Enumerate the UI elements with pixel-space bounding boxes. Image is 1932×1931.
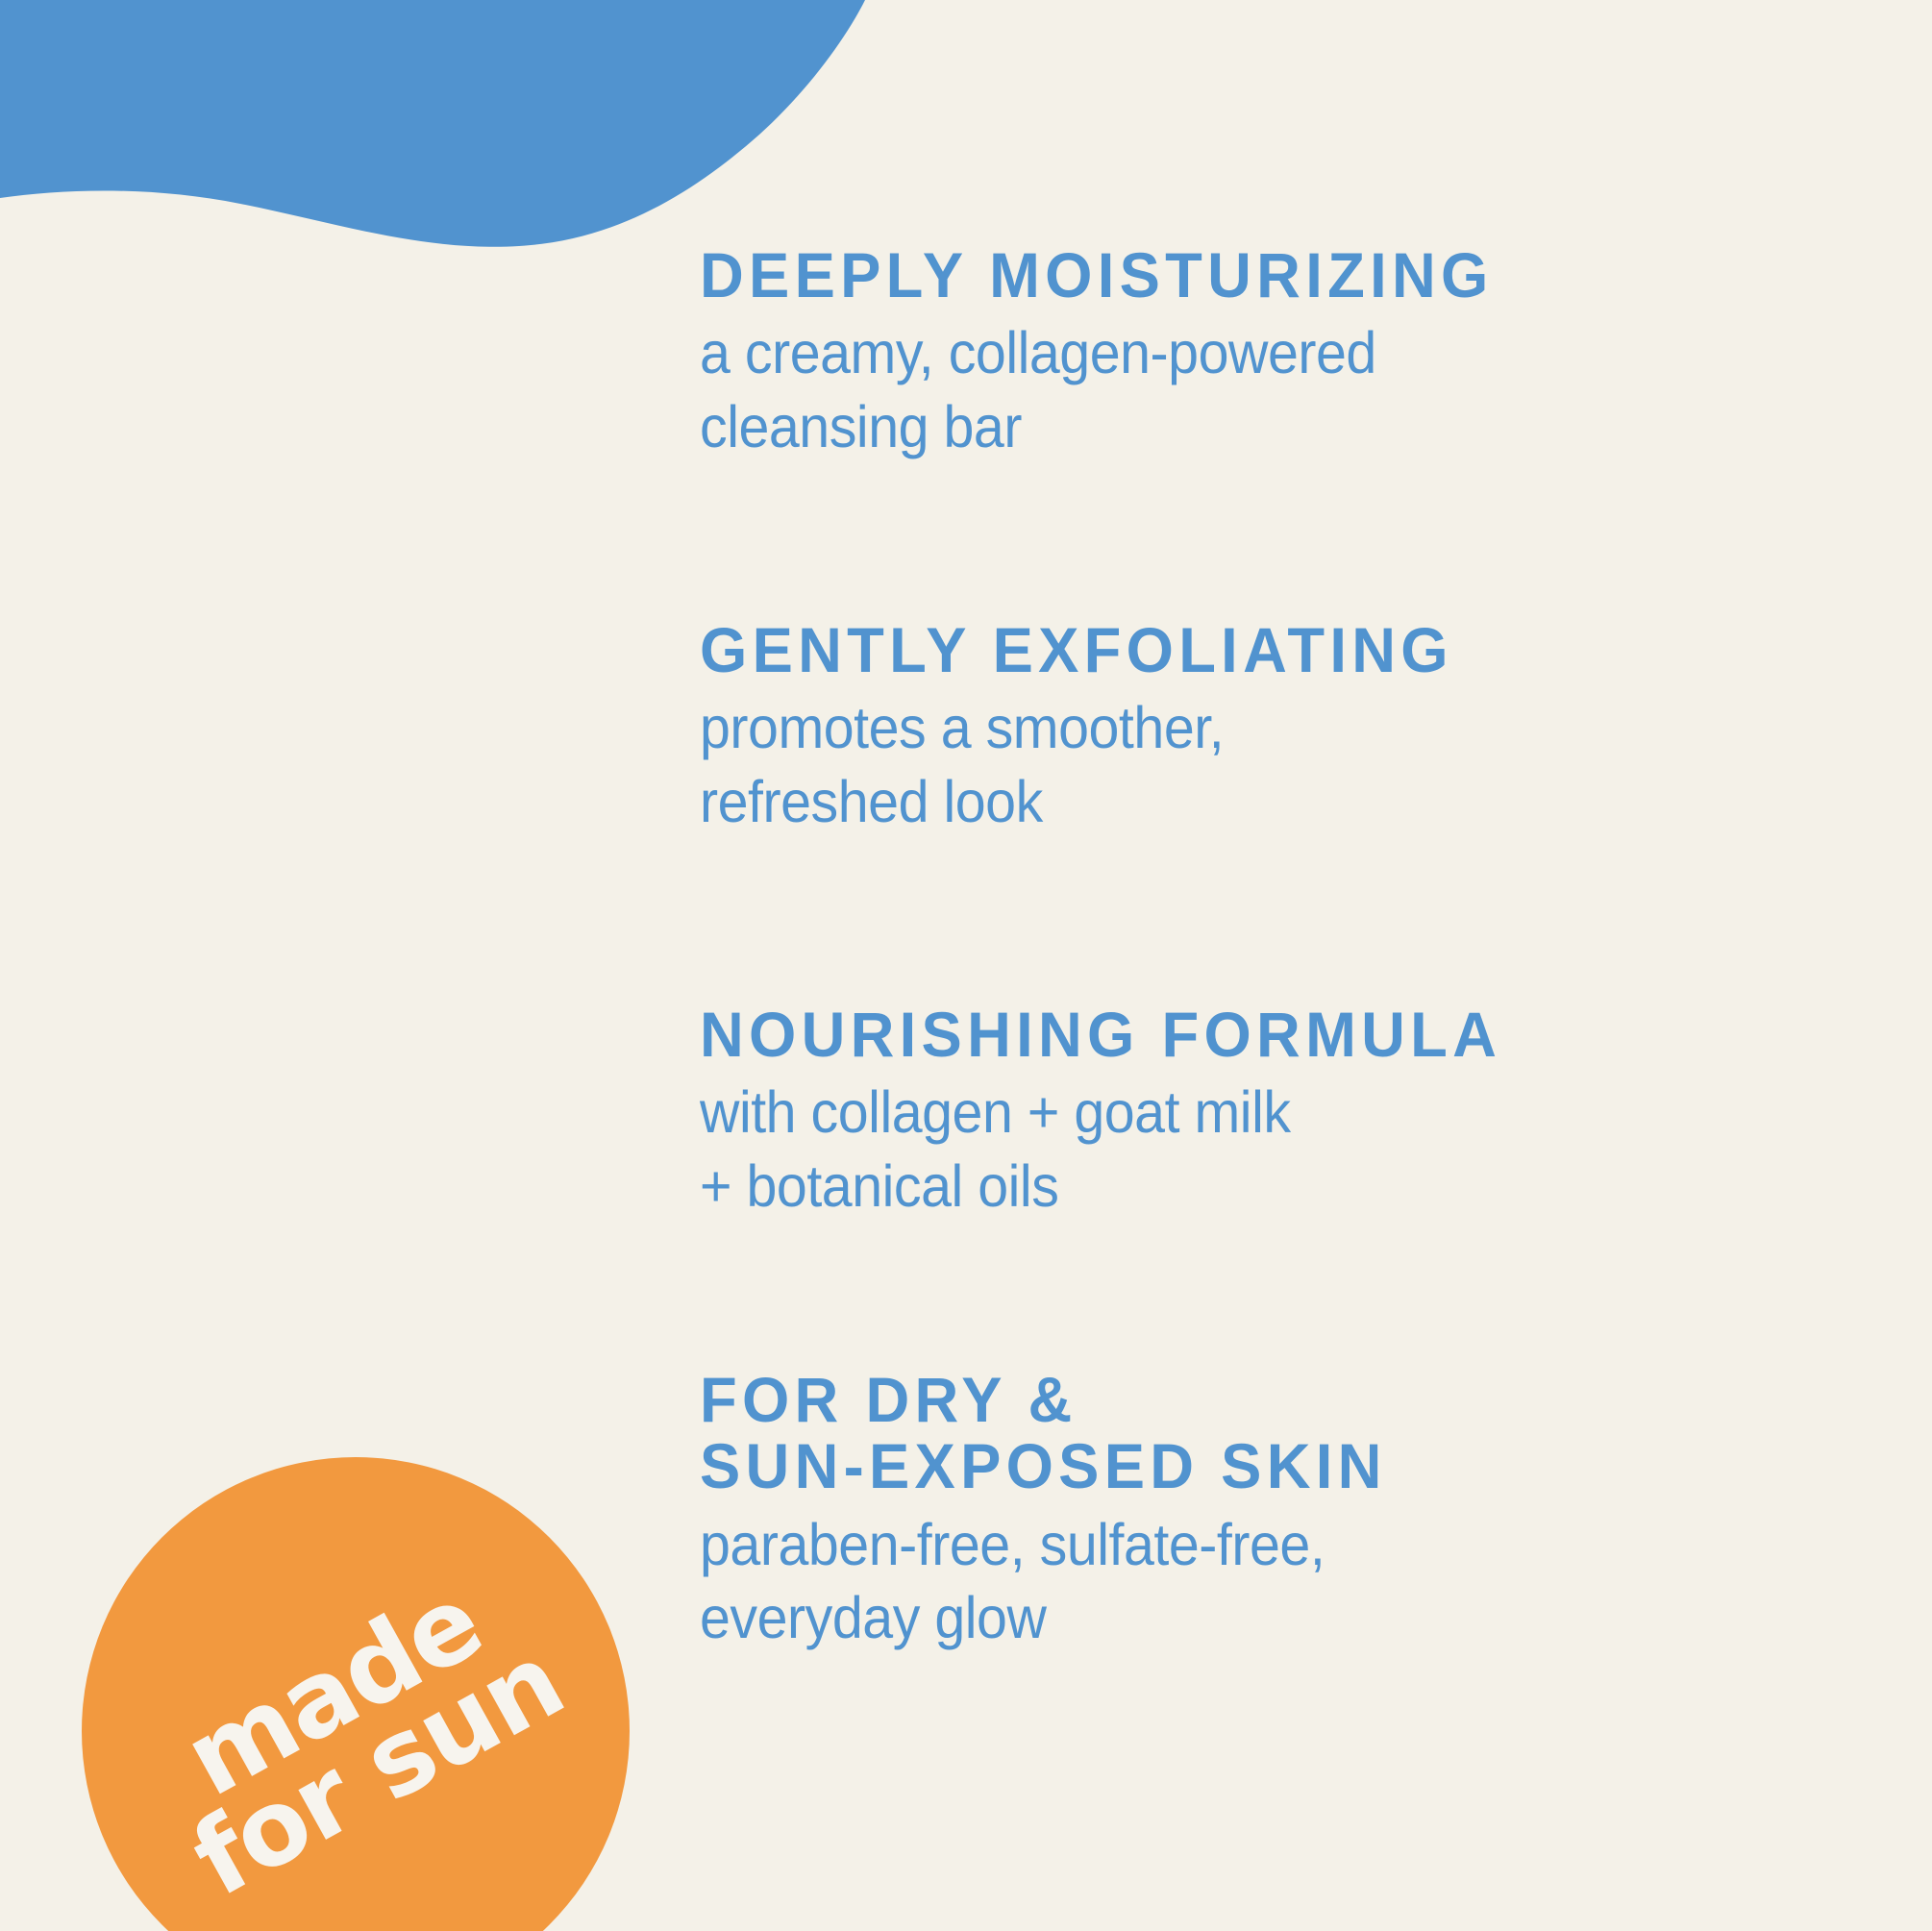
feature-block: FOR DRY & SUN-EXPOSED SKIN paraben-free,… bbox=[700, 1367, 1415, 1655]
feature-body: promotes a smoother, refreshed look bbox=[700, 691, 1438, 839]
feature-block: DEEPLY MOISTURIZING a creamy, collagen-p… bbox=[700, 242, 1526, 464]
product-benefits-graphic: made for sun DEEPLY MOISTURIZING a cream… bbox=[0, 0, 1932, 1931]
badge-line-1: made bbox=[136, 1552, 532, 1830]
feature-body: with collagen + goat milk + botanical oi… bbox=[700, 1076, 1485, 1224]
badge-text: made for sun bbox=[136, 1552, 576, 1910]
feature-title: DEEPLY MOISTURIZING bbox=[700, 242, 1494, 309]
feature-title: NOURISHING FORMULA bbox=[700, 1002, 1501, 1068]
made-for-sun-badge: made for sun bbox=[82, 1457, 630, 1931]
badge-circle-shape bbox=[82, 1457, 630, 1931]
feature-block: NOURISHING FORMULA with collagen + goat … bbox=[700, 1002, 1535, 1224]
feature-body: paraben-free, sulfate-free, everyday glo… bbox=[700, 1508, 1373, 1656]
feature-title: GENTLY EXFOLIATING bbox=[700, 617, 1453, 683]
feature-title: FOR DRY & SUN-EXPOSED SKIN bbox=[700, 1367, 1387, 1500]
feature-block: GENTLY EXFOLIATING promotes a smoother, … bbox=[700, 617, 1485, 839]
feature-body: a creamy, collagen-powered cleansing bar bbox=[700, 316, 1476, 464]
badge-line-2: for sun bbox=[180, 1632, 576, 1910]
